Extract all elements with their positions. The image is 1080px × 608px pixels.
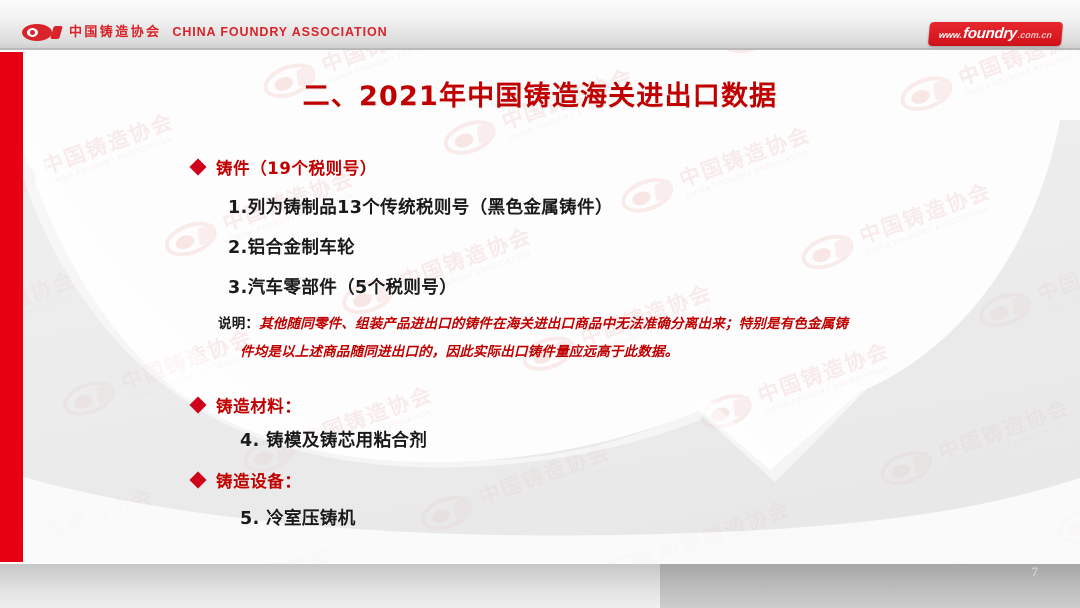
list-item-5: 5. 冷室压铸机 xyxy=(240,505,356,530)
diamond-bullet-icon xyxy=(190,397,207,414)
page-number: 7 xyxy=(1032,564,1039,580)
slide-root: 中国铸造协会CHINA FOUNDRY ASSOCIATION中国铸造协会CHI… xyxy=(0,0,1080,608)
slide-content: 二、2021年中国铸造海关进出口数据 铸件（19个税则号） 1.列为铸制品13个… xyxy=(0,0,1080,608)
bullet-label-foundry-materials: 铸造材料： xyxy=(216,393,302,417)
note-line-2: 件均是以上述商品随同进出口的，因此实际出口铸件量应远高于此数据。 xyxy=(218,346,1028,360)
page-title: 二、2021年中国铸造海关进出口数据 xyxy=(0,74,1080,113)
list-item-1: 1.列为铸制品13个传统税则号（黑色金属铸件） xyxy=(228,194,613,219)
bullet-label-foundry-equipment: 铸造设备： xyxy=(216,468,302,492)
bullet-castings: 铸件（19个税则号） xyxy=(192,155,377,179)
bullet-foundry-materials: 铸造材料： xyxy=(192,393,302,417)
list-item-3: 3.汽车零部件（5个税则号） xyxy=(228,274,457,299)
bullet-label-castings: 铸件（19个税则号） xyxy=(216,155,377,179)
note-body-1: 其他随同零件、组装产品进出口的铸件在海关进出口商品中无法准确分离出来；特别是有色… xyxy=(259,316,848,332)
diamond-bullet-icon xyxy=(190,472,207,489)
bullet-foundry-equipment: 铸造设备： xyxy=(192,468,302,492)
diamond-bullet-icon xyxy=(190,159,207,176)
list-item-2: 2.铝合金制车轮 xyxy=(228,234,355,259)
list-item-4: 4. 铸模及铸芯用粘合剂 xyxy=(240,427,427,452)
note-head: 说明： xyxy=(218,316,259,332)
note-line-1: 说明：其他随同零件、组装产品进出口的铸件在海关进出口商品中无法准确分离出来；特别… xyxy=(218,318,1028,332)
note-block: 说明：其他随同零件、组装产品进出口的铸件在海关进出口商品中无法准确分离出来；特别… xyxy=(218,318,1028,359)
